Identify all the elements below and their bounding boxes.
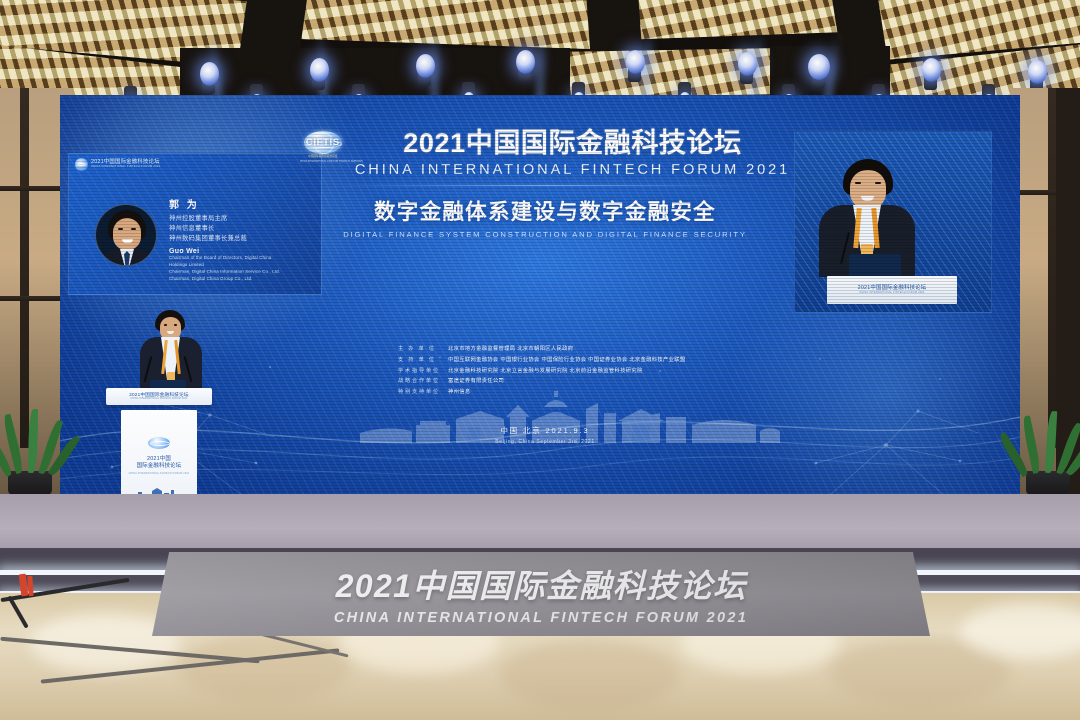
ciftis-globe-icon xyxy=(148,437,170,449)
feed-podium-title-cn: 2021中国国际金融科技论坛 xyxy=(827,283,957,291)
podium-panel-en: CHINA INTERNATIONAL FINTECH FORUM 2021 xyxy=(121,472,197,475)
event-date-cn: 中国 北京 2021.9.3 xyxy=(330,425,760,436)
organizer-value: 富途证券有限责任公司 xyxy=(448,376,504,384)
speaker-info-card: 2021中国国际金融科技论坛 CHINA INTERNATIONAL FINTE… xyxy=(68,153,322,295)
organizer-row: 特别支持单位 神州信息 xyxy=(398,387,828,395)
organizer-value: 神州信息 xyxy=(448,387,470,395)
speaker-portrait-avatar xyxy=(95,204,157,266)
speaker-title-cn-3: 神州数码集团董事长兼总裁 xyxy=(169,234,317,244)
organizer-value: 北京市地方金融监督管理局 北京市朝阳区人民政府 xyxy=(448,344,573,352)
speaker-title-cn-1: 神州控股董事局主席 xyxy=(169,214,317,224)
podium-panel-line2: 国际金融科技论坛 xyxy=(137,463,182,469)
organizer-label: 支 持 单 位 xyxy=(398,356,448,363)
title-divider xyxy=(330,185,760,186)
podium-panel-line1: 2021中国 xyxy=(147,456,171,462)
headline-cn: 2021中国国际金融科技论坛 xyxy=(355,121,790,160)
speaker-title-en-3: Chairman, Digital China Information Serv… xyxy=(169,269,317,276)
podium-header-plate: 2021中国国际金融科技论坛 CHINA INTERNATIONAL FINTE… xyxy=(106,388,212,405)
ciftis-sub-cn: 中国国际服务贸易交易会 xyxy=(300,155,346,159)
organizer-row: 学术指导单位 北京金融科技研究院 北京立言金融与发展研究院 北京前沿金融监管科技… xyxy=(398,366,828,374)
speaker-title-en-1: Chairman of the Board of Directors, Digi… xyxy=(169,255,317,262)
conference-stage-photo: 2021中国国际金融科技论坛 CHINA INTERNATIONAL FINTE… xyxy=(0,0,1080,720)
stage-platform-top xyxy=(0,494,1080,556)
feed-podium: 2021中国国际金融科技论坛 CHINA INTERNATIONAL FINTE… xyxy=(827,276,957,304)
organizer-row: 支 持 单 位 中国互联网金融协会 中国银行业协会 中国保险行业协会 中国证券业… xyxy=(398,355,828,363)
event-date-en: Beijing, China September 3rd, 2021 xyxy=(330,439,760,445)
front-stage-banner: 2021中国国际金融科技论坛 CHINA INTERNATIONAL FINTE… xyxy=(152,552,930,636)
speaker-title-en-4: Chairman, Digital China Group Co., Ltd. xyxy=(169,276,317,283)
organizer-row: 战略合作单位 富途证券有限责任公司 xyxy=(398,376,828,384)
speaker-name-en: Guo Wei xyxy=(169,248,317,255)
speaker-title-cn-2: 神州信息董事长 xyxy=(169,224,317,234)
plant-left xyxy=(2,409,60,495)
podium-panel-title: 2021中国 国际金融科技论坛 xyxy=(121,456,197,471)
speaker-name-cn: 郭 为 xyxy=(169,196,317,211)
event-date-block: 中国 北京 2021.9.3 Beijing, China September … xyxy=(330,425,760,445)
organizer-label: 特别支持单位 xyxy=(398,388,448,395)
organizer-value: 中国互联网金融协会 中国银行业协会 中国保险行业协会 中国证券业协会 北京金融科… xyxy=(448,355,685,363)
live-video-feed: 2021中国国际金融科技论坛 CHINA INTERNATIONAL FINTE… xyxy=(794,131,992,313)
ciftis-sub-en: CHINA INTERNATIONAL FAIR FOR TRADE IN SE… xyxy=(300,161,346,164)
banner-title-cn: 2021中国国际金融科技论坛 xyxy=(152,561,930,607)
headline-en: CHINA INTERNATIONAL FINTECH FORUM 2021 xyxy=(355,162,790,178)
organizer-label: 战略合作单位 xyxy=(398,377,448,384)
organizer-list: 主 办 单 位 北京市地方金融监督管理局 北京市朝阳区人民政府 支 持 单 位 … xyxy=(398,344,828,398)
banner-title-en: CHINA INTERNATIONAL FINTECH FORUM 2021 xyxy=(152,610,930,626)
ciftis-wordmark: CIFTIS xyxy=(300,137,346,148)
podium-logo xyxy=(121,436,197,454)
card-logo-title-en: CHINA INTERNATIONAL FINTECH FORUM 2021 xyxy=(91,166,160,169)
podium-header-en: CHINA INTERNATIONAL FINTECH FORUM 2021 xyxy=(106,398,212,400)
ciftis-logo: CIFTIS 中国国际服务贸易交易会 CHINA INTERNATIONAL F… xyxy=(300,130,346,170)
speaker-title-en-2: Holdings Limited xyxy=(169,262,317,269)
subtitle-en: DIGITAL FINANCE SYSTEM CONSTRUCTION AND … xyxy=(330,230,760,239)
forum-title-block: CIFTIS 中国国际服务贸易交易会 CHINA INTERNATIONAL F… xyxy=(330,121,760,239)
organizer-row: 主 办 单 位 北京市地方金融监督管理局 北京市朝阳区人民政府 xyxy=(398,344,828,352)
plant-right xyxy=(1016,413,1078,495)
ciftis-globe-icon xyxy=(75,158,88,171)
feed-podium-title-en: CHINA INTERNATIONAL FINTECH FORUM 2021 xyxy=(827,291,957,294)
wall-column-left xyxy=(20,88,29,448)
podium-header-cn: 2021中国国际金融科技论坛 xyxy=(106,392,212,398)
organizer-label: 主 办 单 位 xyxy=(398,345,448,352)
led-backdrop-screen: 2021中国国际金融科技论坛 CHINA INTERNATIONAL FINTE… xyxy=(60,95,1020,495)
subtitle-cn: 数字金融体系建设与数字金融安全 xyxy=(330,195,760,226)
organizer-label: 学术指导单位 xyxy=(398,367,448,374)
card-logo: 2021中国国际金融科技论坛 CHINA INTERNATIONAL FINTE… xyxy=(75,158,160,171)
organizer-value: 北京金融科技研究院 北京立言金融与发展研究院 北京前沿金融监管科技研究院 xyxy=(448,366,643,374)
